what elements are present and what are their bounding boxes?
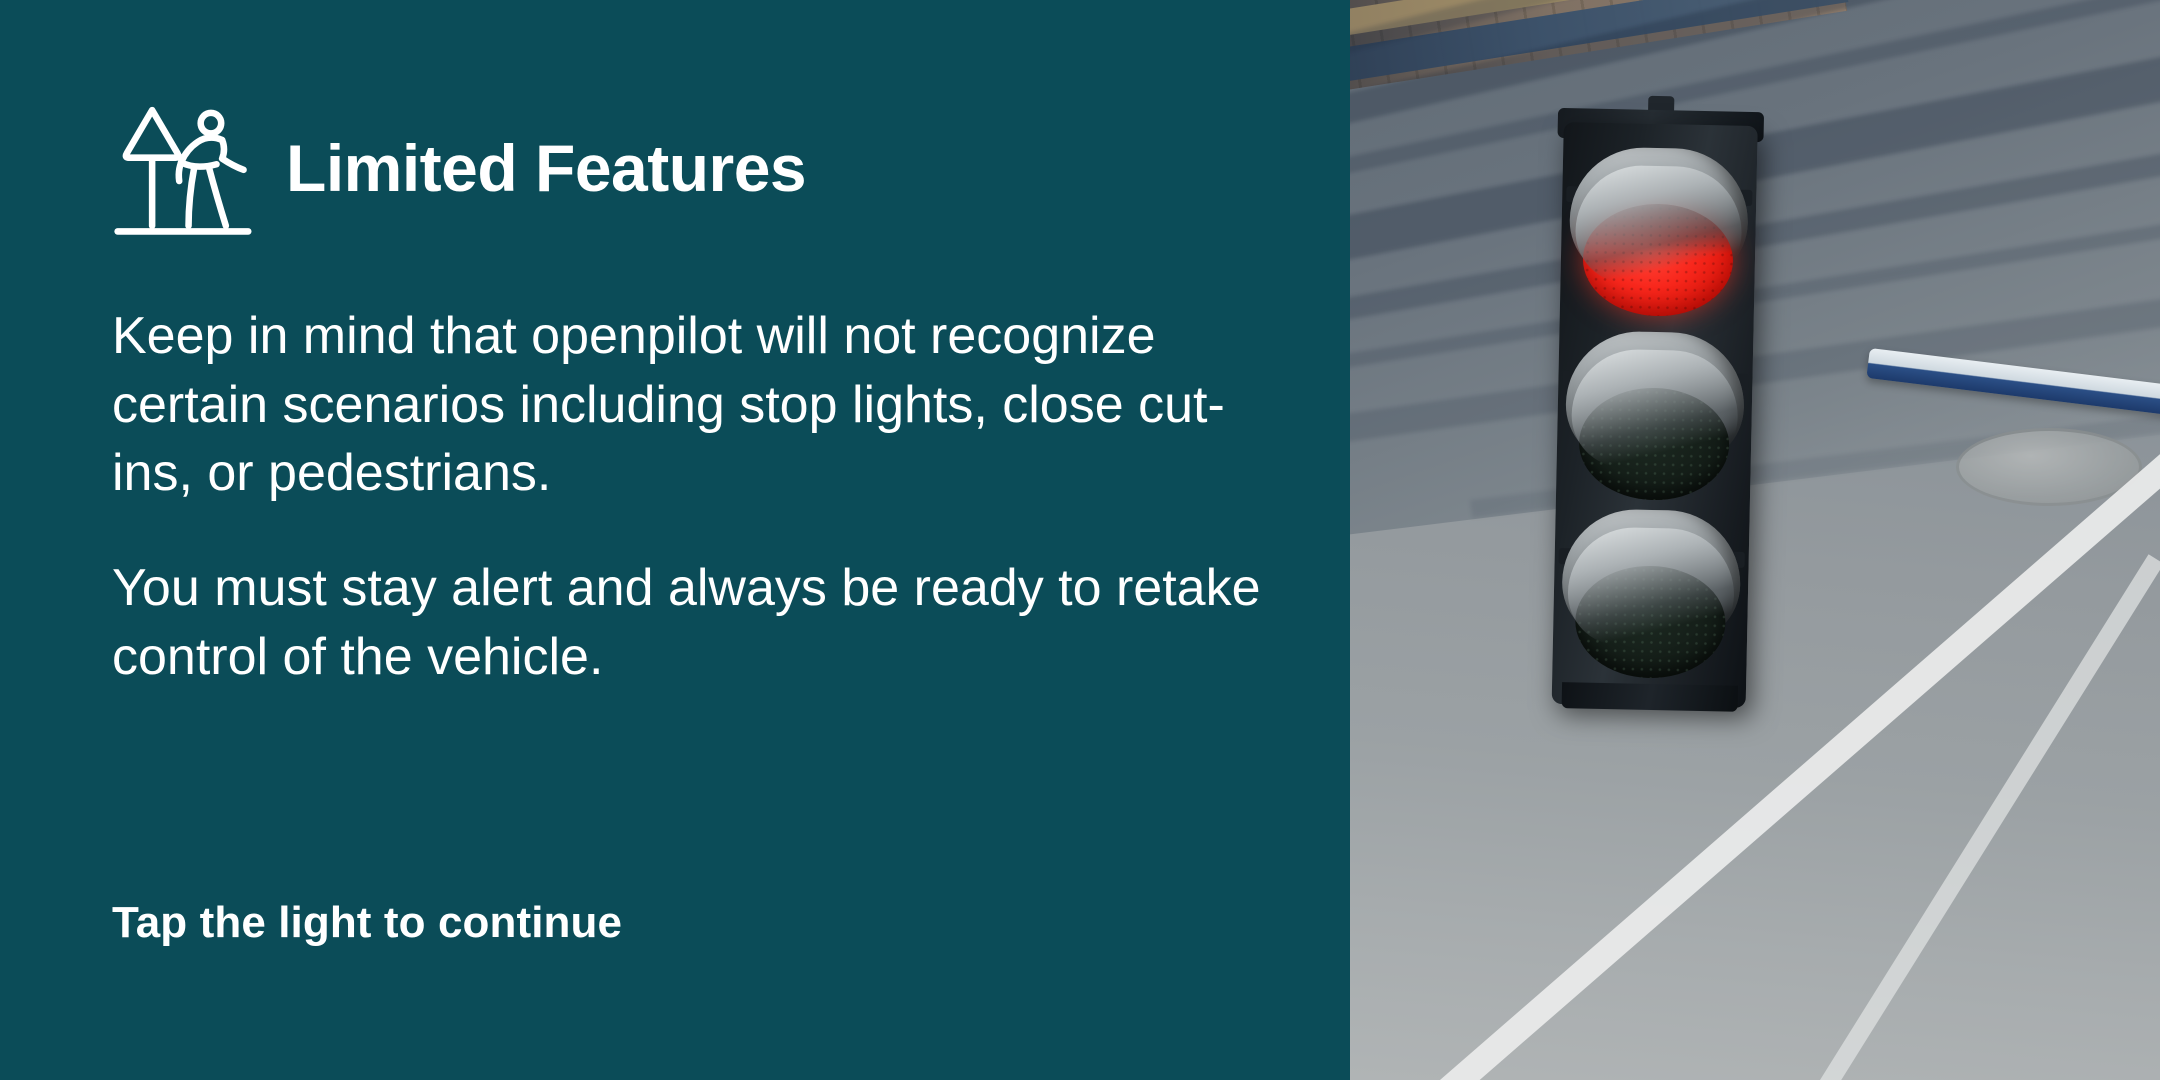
- continue-instruction: Tap the light to continue: [112, 898, 622, 948]
- green-lens: [1574, 564, 1726, 679]
- traffic-light-lamp-green[interactable]: [1560, 508, 1742, 682]
- pedestrian-warning-icon: [112, 95, 252, 240]
- header-row: Limited Features: [112, 95, 806, 240]
- traffic-light-unit[interactable]: [1540, 94, 1771, 708]
- info-panel: Limited Features Keep in mind that openp…: [0, 0, 1350, 1080]
- photo-canvas: [1350, 0, 2160, 1080]
- traffic-light-lamp-yellow[interactable]: [1564, 330, 1746, 504]
- red-lens: [1582, 202, 1734, 317]
- page-title: Limited Features: [286, 135, 806, 201]
- body-copy: Keep in mind that openpilot will not rec…: [112, 302, 1292, 691]
- traffic-light-base: [1562, 682, 1739, 712]
- onboarding-screen: Limited Features Keep in mind that openp…: [0, 0, 2160, 1080]
- paragraph-stay-alert: You must stay alert and always be ready …: [112, 554, 1272, 691]
- paragraph-limitations: Keep in mind that openpilot will not rec…: [112, 302, 1272, 508]
- yellow-lens: [1578, 386, 1730, 501]
- lens-shadow: [1583, 202, 1734, 253]
- traffic-light-photo: [1350, 0, 2160, 1080]
- traffic-light-lamp-red[interactable]: [1568, 146, 1750, 320]
